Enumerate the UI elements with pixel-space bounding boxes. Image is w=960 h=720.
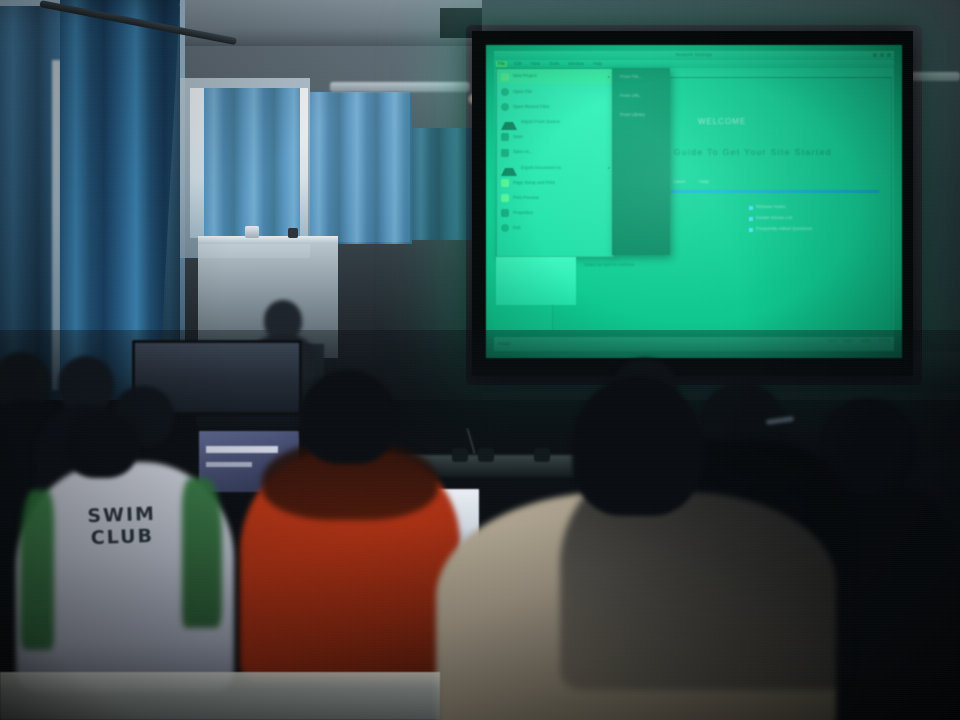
bullet-icon (749, 228, 753, 232)
app-window-title: Network Settings (676, 53, 712, 57)
side-panel (496, 257, 576, 305)
folder-icon (501, 88, 509, 96)
interior-curtain-1 (204, 88, 300, 240)
menu-option-label: Import From Source (521, 120, 560, 124)
ceiling-light-fixture-right (905, 72, 960, 81)
menu-option-label: Page Setup and Print (513, 181, 555, 185)
menu-option-save-as[interactable]: Save As... (497, 145, 613, 160)
page-title: WELCOME (698, 118, 746, 126)
tab-users[interactable]: Users (673, 180, 685, 185)
submenu-option-from-url[interactable]: From URL (612, 87, 670, 106)
import-icon (501, 114, 517, 130)
desk-equipment-1 (452, 448, 468, 462)
projected-application-window: Network Settings File Edit View Tools Wi… (494, 51, 894, 351)
menu-option-label: Exit (513, 226, 520, 230)
clock-icon (501, 103, 509, 111)
list-item-label: Release Notes (756, 205, 786, 210)
desk-equipment-3 (534, 448, 550, 462)
jacket-stripe-right (182, 478, 222, 628)
disk-icon (501, 133, 509, 141)
bullet-icon (749, 206, 753, 210)
menu-option-label: Open File (513, 90, 532, 94)
menu-option-export[interactable]: Export Document As ▸ (497, 160, 613, 175)
info-icon (501, 209, 509, 217)
panel-hint-text: Select an item to continue (584, 263, 635, 267)
maximize-icon[interactable] (880, 53, 884, 57)
menu-option-label: Print Preview (513, 196, 539, 200)
menu-option-print-preview[interactable]: Print Preview (497, 191, 613, 206)
chevron-right-icon: ▸ (608, 166, 610, 170)
exit-icon (501, 224, 509, 232)
export-submenu[interactable]: From File... From URL From Library (612, 68, 670, 255)
menu-option-open-file[interactable]: Open File (497, 84, 613, 99)
interior-curtain-2 (310, 92, 412, 244)
app-menu-bar[interactable]: File Edit View Tools Window Help (494, 60, 894, 68)
classroom-projection-scene: Network Settings File Edit View Tools Wi… (0, 0, 960, 720)
menu-item-edit[interactable]: Edit (512, 61, 524, 67)
window-controls[interactable] (873, 53, 891, 57)
menu-option-page-setup[interactable]: Page Setup and Print (497, 175, 613, 190)
preview-icon (501, 194, 509, 202)
list-item[interactable]: Known Issues List (749, 213, 892, 224)
projector-screen-surface: Network Settings File Edit View Tools Wi… (486, 45, 902, 358)
close-icon[interactable] (887, 53, 891, 57)
file-dropdown-menu[interactable]: New Project ▸ Open File Open Recent File… (496, 68, 614, 257)
printer-icon (501, 179, 509, 187)
swim-club-text: SWIM CLUB (51, 502, 192, 551)
menu-option-label: Open Recent Files (513, 105, 549, 109)
right-link-column: Release Notes Known Issues List Frequent… (749, 202, 892, 235)
desk-object-cup (245, 226, 259, 238)
ceiling-light-fixture (330, 82, 470, 92)
tab-help[interactable]: Help (699, 180, 708, 185)
disk-copy-icon (501, 149, 509, 157)
minimize-icon[interactable] (873, 53, 877, 57)
list-item[interactable]: Frequently Asked Questions (749, 224, 892, 235)
menu-option-label: Save As... (513, 150, 533, 154)
app-title-bar: Network Settings (494, 51, 894, 60)
menu-option-label: Save (513, 135, 523, 139)
menu-option-new-project[interactable]: New Project ▸ (497, 69, 613, 84)
menu-item-window[interactable]: Window (566, 61, 586, 67)
menu-item-help[interactable]: Help (591, 61, 604, 67)
menu-option-exit[interactable]: Exit (497, 221, 613, 236)
list-item[interactable]: Release Notes (749, 202, 892, 213)
submenu-option-from-file[interactable]: From File... (612, 68, 670, 87)
export-icon (501, 160, 517, 176)
menu-option-save[interactable]: Save (497, 130, 613, 145)
jacket-stripe-left (20, 490, 54, 650)
desk-object-box (288, 228, 298, 238)
menu-option-label: Properties (513, 211, 533, 215)
menu-option-open-recent[interactable]: Open Recent Files (497, 99, 613, 114)
head (64, 412, 138, 478)
chevron-right-icon: ▸ (608, 75, 610, 79)
menu-item-view[interactable]: View (529, 61, 542, 67)
head (572, 376, 702, 516)
list-item-label: Frequently Asked Questions (756, 227, 812, 232)
desk-equipment-2 (478, 448, 494, 462)
menu-option-import[interactable]: Import From Source (497, 115, 613, 130)
list-item-label: Known Issues List (756, 216, 792, 221)
menu-option-properties[interactable]: Properties (497, 206, 613, 221)
page-icon (501, 73, 509, 81)
menu-option-label: New Project (513, 74, 537, 78)
menu-item-tools[interactable]: Tools (547, 61, 561, 67)
submenu-option-from-library[interactable]: From Library (612, 106, 670, 125)
laptop-window-titlebar (206, 446, 278, 453)
menu-option-label: Export Document As (521, 166, 561, 170)
bullet-icon (749, 217, 753, 221)
head (300, 370, 396, 464)
front-table (0, 672, 440, 720)
counter-top-edge (198, 236, 338, 244)
menu-item-file[interactable]: File (496, 61, 507, 67)
laptop-window-row (206, 462, 252, 467)
